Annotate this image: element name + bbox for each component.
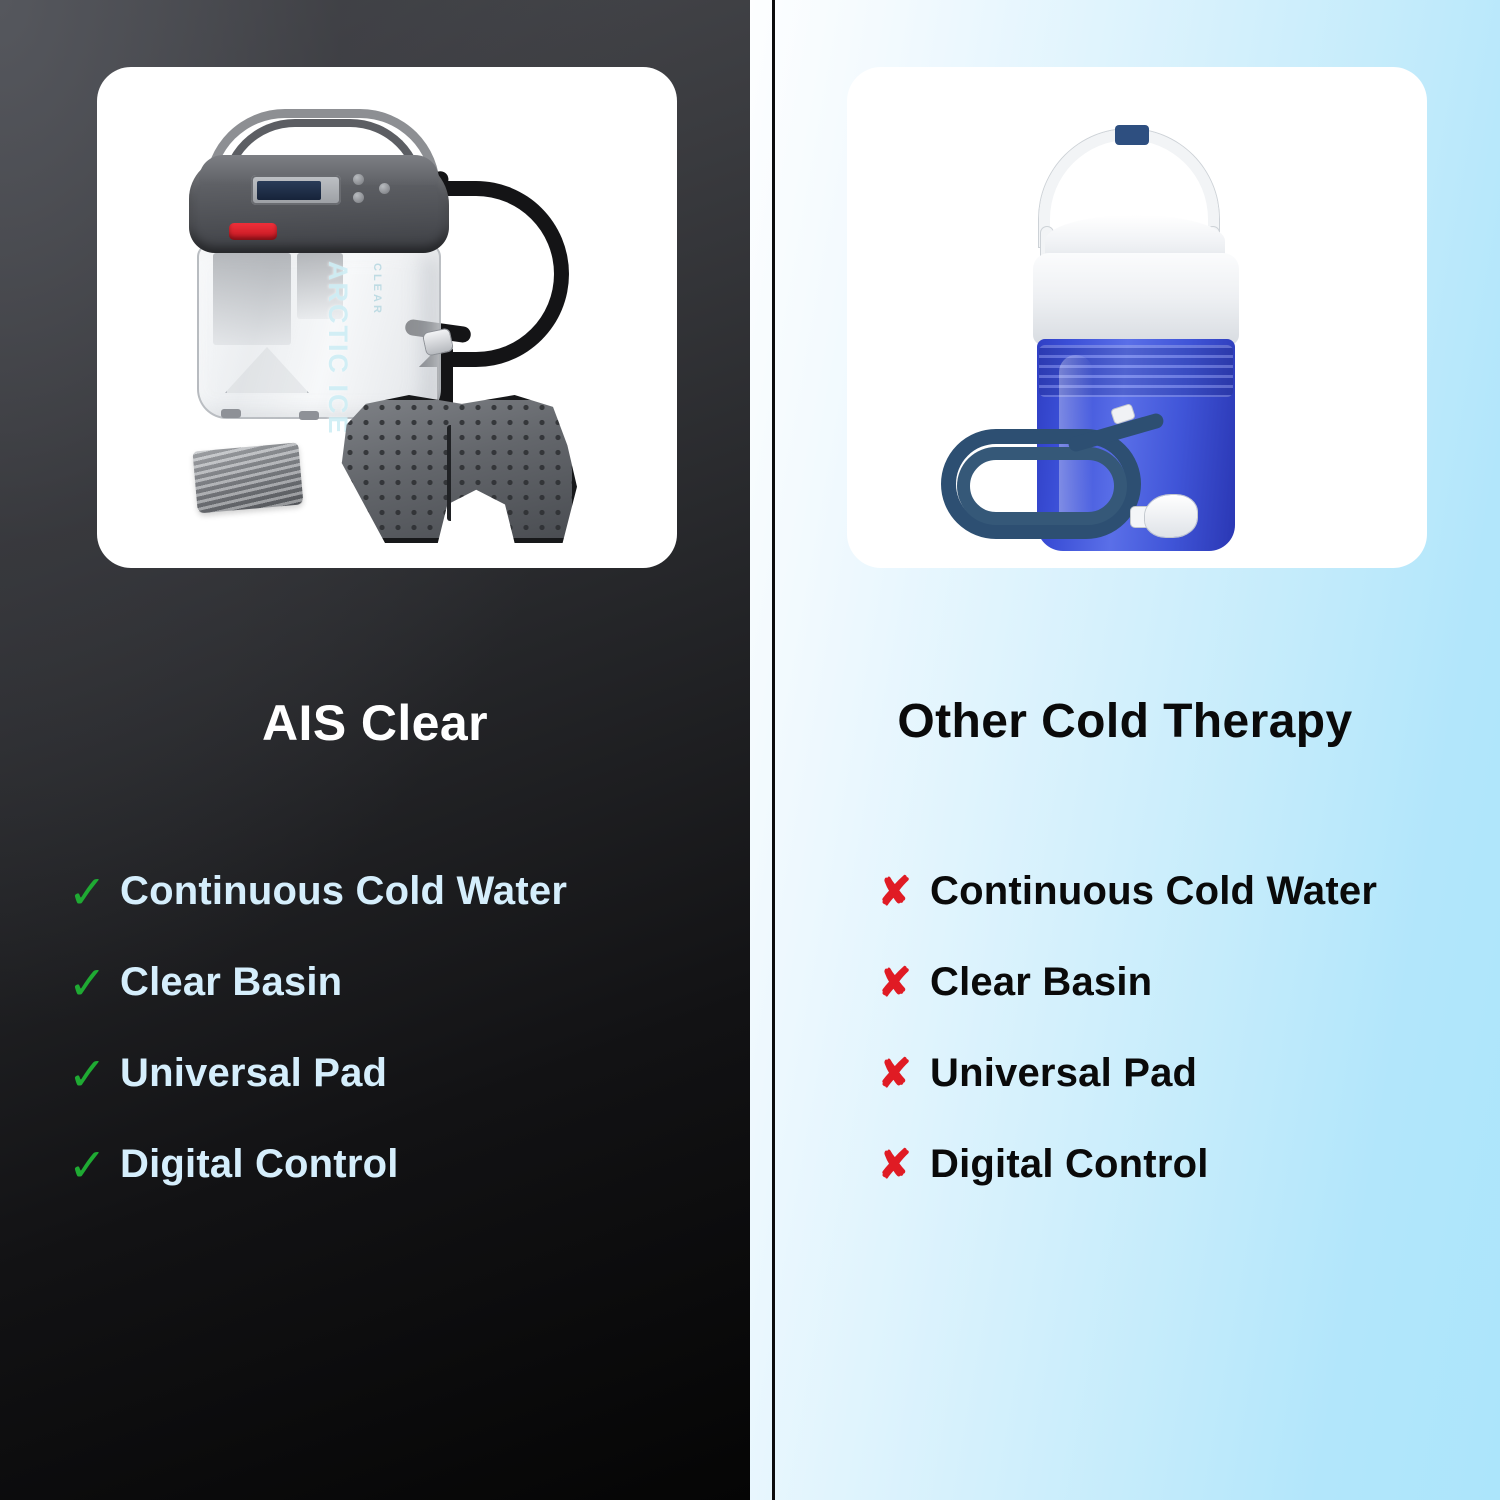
device-folded-cloth-wrap <box>192 442 303 513</box>
left-product-card: ARCTIC ICE CLEAR <box>97 67 677 568</box>
feature-row-universal-pad: ✘ Universal Pad <box>878 1028 1500 1119</box>
feature-row-clear-basin: ✘ Clear Basin <box>878 937 1500 1028</box>
left-panel-title: AIS Clear <box>0 694 750 752</box>
left-feature-list: ✓ Continuous Cold Water ✓ Clear Basin ✓ … <box>0 846 750 1210</box>
feature-label: Continuous Cold Water <box>930 869 1377 914</box>
jug-white-collar <box>1033 253 1239 345</box>
feature-row-continuous-cold-water: ✓ Continuous Cold Water <box>68 846 750 937</box>
jug-navy-grip-band <box>1115 125 1149 145</box>
red-cross-icon: ✘ <box>878 1054 930 1094</box>
feature-row-clear-basin: ✓ Clear Basin <box>68 937 750 1028</box>
left-product-image: ARCTIC ICE CLEAR <box>97 67 677 568</box>
feature-row-universal-pad: ✓ Universal Pad <box>68 1028 750 1119</box>
right-product-card <box>847 67 1427 568</box>
panel-divider <box>772 0 775 1500</box>
device-brand-subtext: CLEAR <box>371 263 383 316</box>
device-digital-display-icon <box>257 181 321 200</box>
green-check-icon: ✓ <box>68 1142 120 1188</box>
feature-row-digital-control: ✘ Digital Control <box>878 1119 1500 1210</box>
device-control-button-3 <box>379 183 390 194</box>
cloth-fold-lines <box>192 442 303 513</box>
right-comparison-panel: Other Cold Therapy ✘ Continuous Cold Wat… <box>750 0 1500 1500</box>
green-check-icon: ✓ <box>68 960 120 1006</box>
device-control-button-2 <box>353 192 364 203</box>
product-comparison-graphic: ARCTIC ICE CLEAR <box>0 0 1500 1500</box>
right-feature-list: ✘ Continuous Cold Water ✘ Clear Basin ✘ … <box>750 846 1500 1210</box>
feature-label: Clear Basin <box>120 960 342 1005</box>
feature-label: Universal Pad <box>120 1051 387 1096</box>
red-cross-icon: ✘ <box>878 872 930 912</box>
right-panel-title: Other Cold Therapy <box>750 694 1500 749</box>
feature-row-digital-control: ✓ Digital Control <box>68 1119 750 1210</box>
feature-label: Continuous Cold Water <box>120 869 567 914</box>
arctic-ice-clear-device: ARCTIC ICE CLEAR <box>147 95 647 545</box>
device-brand-text: ARCTIC ICE <box>322 261 353 436</box>
jug-coiled-hose-inner <box>957 447 1127 525</box>
right-product-image <box>847 67 1427 568</box>
jug-white-spigot-icon <box>1145 495 1197 537</box>
left-comparison-panel: ARCTIC ICE CLEAR <box>0 0 750 1500</box>
pad-center-channel <box>447 425 473 521</box>
device-red-release-latch <box>229 223 277 240</box>
red-cross-icon: ✘ <box>878 1145 930 1185</box>
device-basin-internal-part-a <box>213 253 291 345</box>
feature-label: Clear Basin <box>930 960 1152 1005</box>
cooler-jug-device <box>917 107 1357 537</box>
red-cross-icon: ✘ <box>878 963 930 1003</box>
feature-label: Digital Control <box>120 1142 399 1187</box>
green-check-icon: ✓ <box>68 1051 120 1097</box>
green-check-icon: ✓ <box>68 869 120 915</box>
feature-label: Digital Control <box>930 1142 1209 1187</box>
feature-row-continuous-cold-water: ✘ Continuous Cold Water <box>878 846 1500 937</box>
device-control-button-1 <box>353 174 364 185</box>
device-foot-left <box>221 409 241 418</box>
device-foot-right <box>299 411 319 420</box>
feature-label: Universal Pad <box>930 1051 1197 1096</box>
